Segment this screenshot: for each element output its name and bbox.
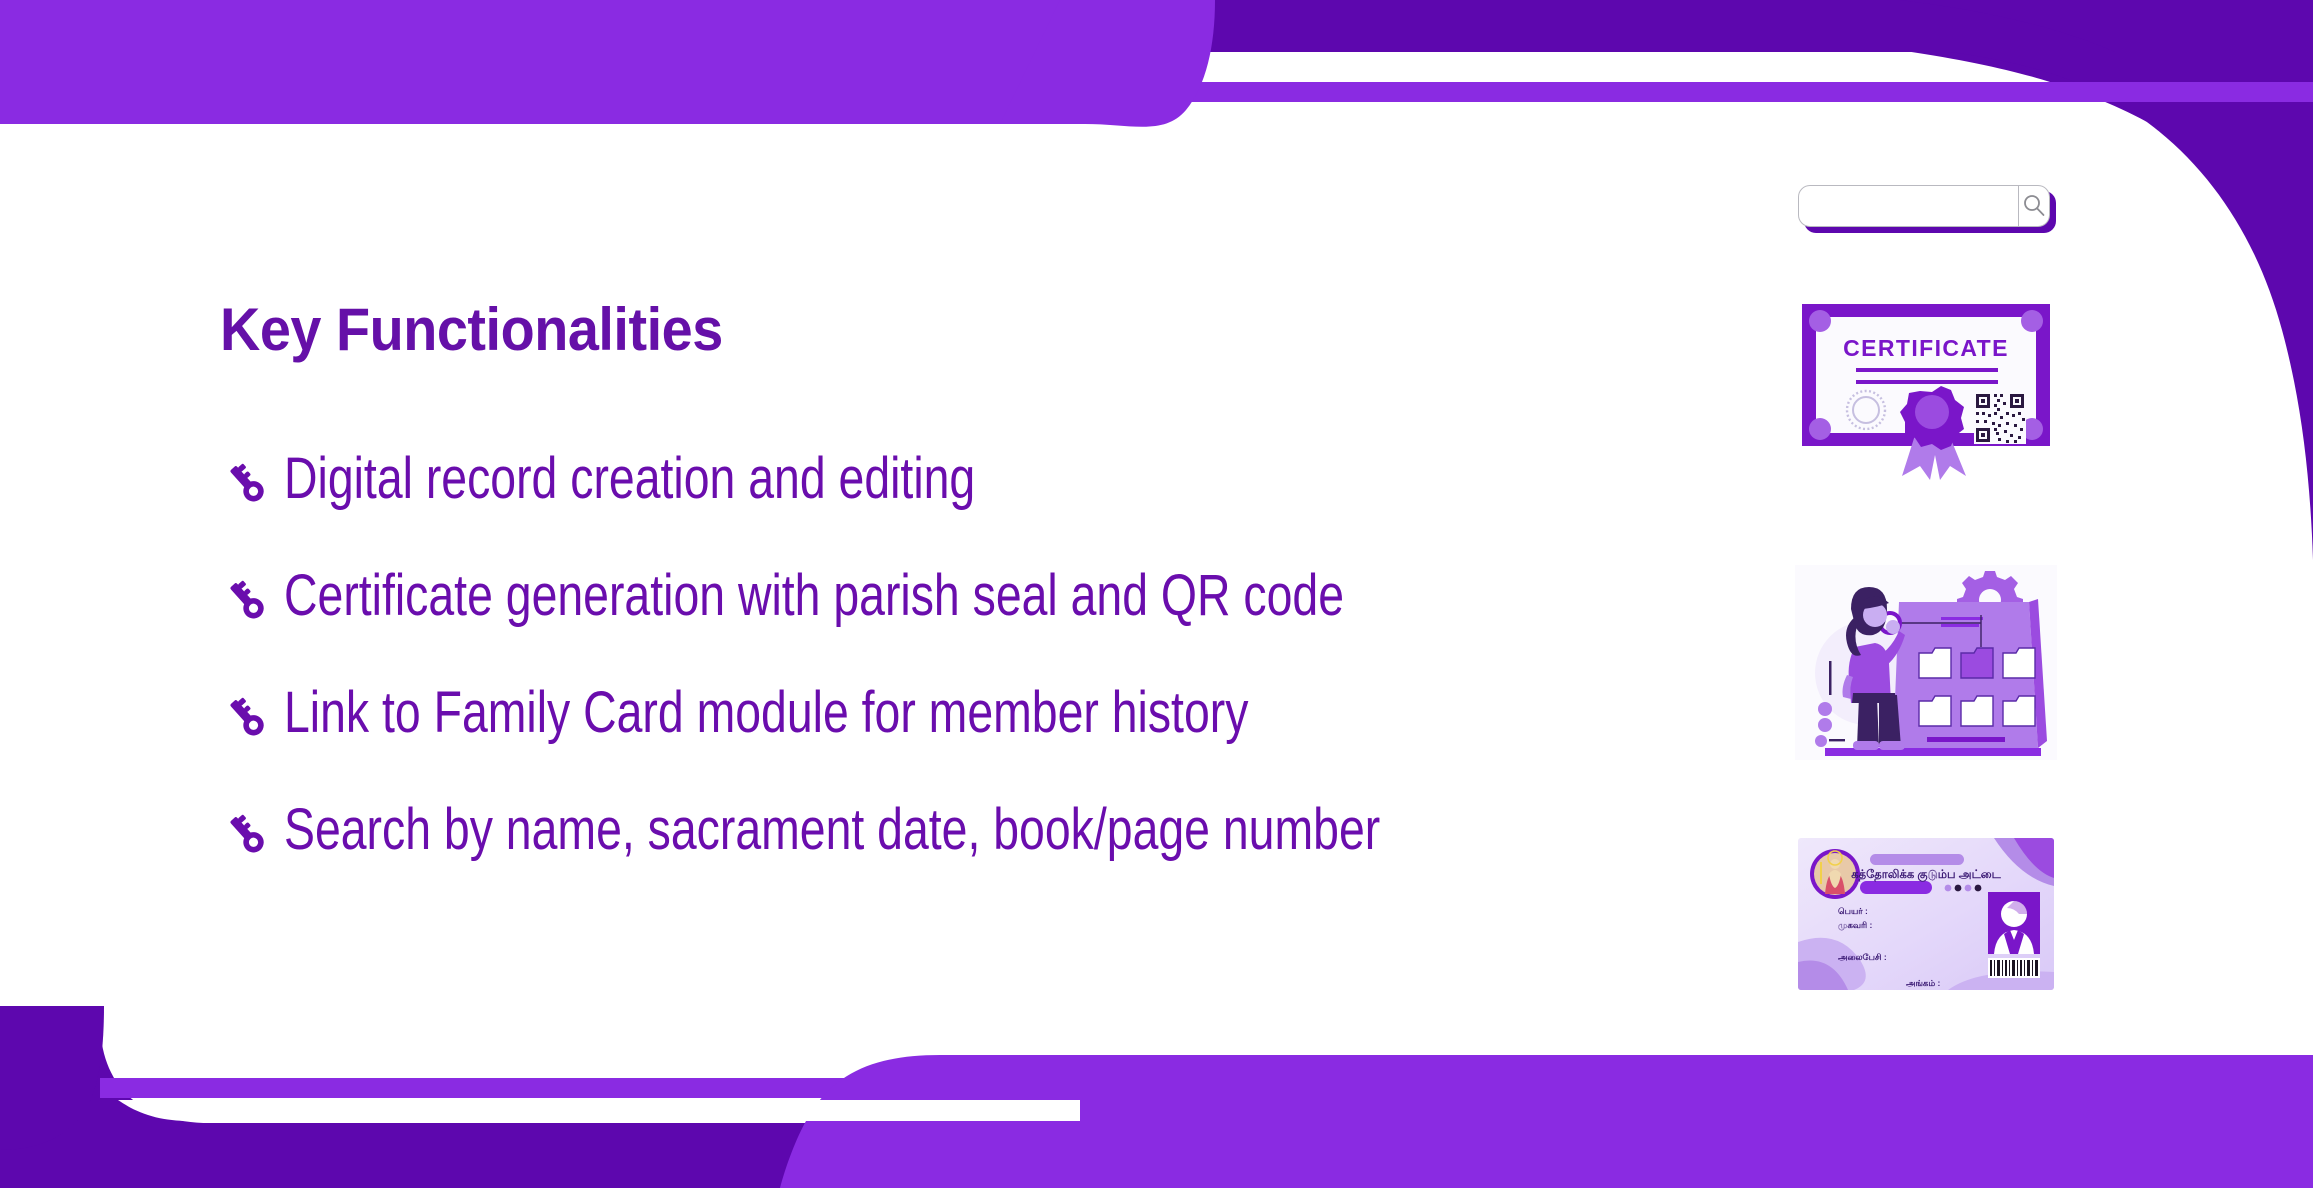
key-icon bbox=[218, 806, 270, 858]
accent-dot-2 bbox=[1818, 718, 1832, 732]
list-item-label: Certificate generation with parish seal … bbox=[284, 565, 1344, 627]
certificate-rule-1 bbox=[1856, 368, 1998, 372]
folder bbox=[1961, 696, 1993, 726]
accent-dot-3 bbox=[1815, 735, 1827, 747]
search-input[interactable] bbox=[1799, 186, 2018, 226]
corner-dot-bl bbox=[1809, 418, 1831, 440]
family-card-illustration: கத்தோலிக்க குடும்ப அட்டை பெயர் : முகவரி … bbox=[1798, 838, 2054, 990]
folder bbox=[1919, 648, 1951, 678]
key-icon bbox=[218, 689, 270, 741]
certificate-rule-2 bbox=[1856, 380, 1998, 384]
certificate-illustration: CERTIFICATE bbox=[1798, 300, 2054, 480]
search-button[interactable] bbox=[2019, 186, 2049, 226]
card-heading: கத்தோலிக்க குடும்ப அட்டை bbox=[1851, 868, 2001, 882]
field-label-member: அங்கம் : bbox=[1906, 978, 1941, 988]
list-item: Search by name, sacrament date, book/pag… bbox=[218, 791, 1718, 869]
field-label-address: முகவரி : bbox=[1838, 920, 1872, 931]
corner-dot-tl bbox=[1809, 310, 1831, 332]
key-icon bbox=[218, 572, 270, 624]
qr-code bbox=[1974, 392, 2026, 444]
search-bar-box[interactable] bbox=[1798, 185, 2050, 227]
list-item: Link to Family Card module for member hi… bbox=[218, 674, 1718, 752]
field-label-mobile: அலைபேசி : bbox=[1838, 952, 1887, 962]
search-bar[interactable] bbox=[1798, 185, 2050, 227]
folder bbox=[2003, 648, 2035, 678]
folder bbox=[1961, 648, 1993, 678]
folder bbox=[1919, 696, 1951, 726]
certificate-heading: CERTIFICATE bbox=[1843, 335, 2009, 361]
title-pill-top bbox=[1870, 854, 1964, 865]
folder bbox=[2003, 696, 2035, 726]
magnifier-icon bbox=[2021, 193, 2047, 219]
key-functionalities-list: Digital record creation and editing Cert… bbox=[218, 440, 1718, 908]
list-item-label: Search by name, sacrament date, book/pag… bbox=[284, 799, 1380, 861]
board-line-1 bbox=[1941, 617, 1983, 620]
document-management-illustration bbox=[1795, 565, 2057, 760]
list-item: Certificate generation with parish seal … bbox=[218, 557, 1718, 635]
accent-line bbox=[1829, 661, 1832, 695]
accent-dot-1 bbox=[1818, 702, 1832, 716]
portrait-photo bbox=[1988, 892, 2040, 954]
slide-content: Key Functionalities Digital record creat… bbox=[0, 0, 2313, 1188]
accent-line-2 bbox=[1829, 739, 1845, 741]
page-title: Key Functionalities bbox=[220, 295, 723, 364]
rosette-center bbox=[1915, 395, 1949, 429]
corner-dot-tr bbox=[2021, 310, 2043, 332]
key-icon bbox=[218, 455, 270, 507]
list-item-label: Digital record creation and editing bbox=[284, 448, 975, 510]
field-label-name: பெயர் : bbox=[1838, 906, 1868, 916]
board-footer-bar bbox=[1927, 737, 2005, 742]
list-item: Digital record creation and editing bbox=[218, 440, 1718, 518]
barcode bbox=[1988, 958, 2040, 978]
board-line-2 bbox=[1941, 624, 1979, 627]
list-item-label: Link to Family Card module for member hi… bbox=[284, 682, 1248, 744]
title-pill-bottom bbox=[1860, 881, 1932, 894]
